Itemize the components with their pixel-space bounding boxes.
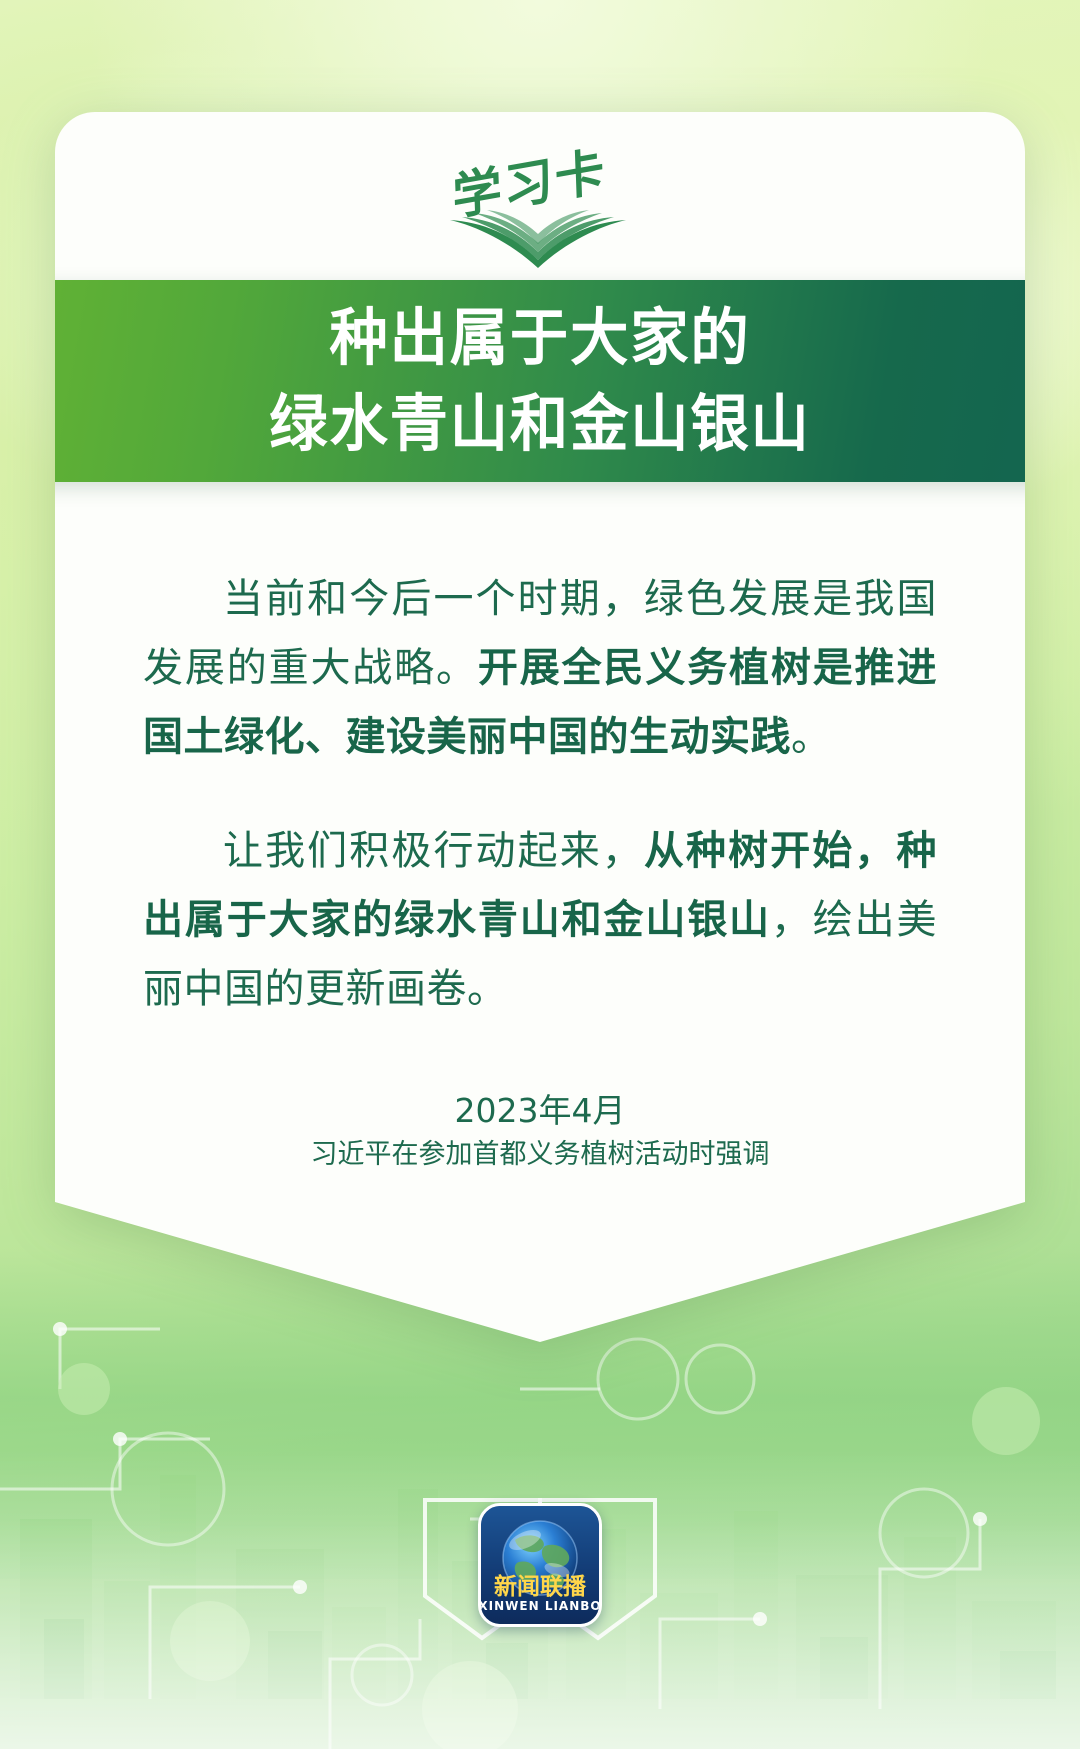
brand-logo-text: 学习卡	[452, 142, 608, 227]
brand-logo: 学习卡	[55, 112, 1025, 277]
title-line-2: 绿水青山和金山银山	[269, 381, 810, 467]
title-line-1: 种出属于大家的	[329, 295, 750, 381]
paragraph-2-seg-1: 让我们积极行动起来，	[223, 828, 644, 874]
xuexika-logo-icon: 学习卡	[420, 142, 660, 277]
footer-logo-title-pinyin: XINWEN LIANBO	[481, 1599, 599, 1613]
xinwen-lianbo-logo[interactable]: 新闻联播 XINWEN LIANBO	[478, 1503, 602, 1627]
paragraph-2: 让我们积极行动起来，从种树开始，种出属于大家的绿水青山和金山银山，绘出美丽中国的…	[143, 817, 937, 1023]
paragraph-1-seg-3: 。	[791, 714, 832, 760]
content-card: 学习卡 种出属于大家的 绿水青山和金山银山 当前和今后	[55, 112, 1025, 1342]
attribution-date: 2023年4月	[143, 1088, 937, 1135]
card-body: 学习卡 种出属于大家的 绿水青山和金山银山 当前和今后	[55, 112, 1025, 1342]
attribution-source: 习近平在参加首都义务植树活动时强调	[143, 1135, 937, 1176]
attribution: 2023年4月 习近平在参加首都义务植树活动时强调	[143, 1088, 937, 1175]
title-banner: 种出属于大家的 绿水青山和金山银山	[17, 280, 1063, 482]
paragraph-1: 当前和今后一个时期，绿色发展是我国发展的重大战略。开展全民义务植树是推进国土绿化…	[143, 565, 937, 771]
footer-logo-title-cn: 新闻联播	[494, 1573, 587, 1600]
poster-root: 学习卡 种出属于大家的 绿水青山和金山银山 当前和今后	[0, 0, 1080, 1749]
